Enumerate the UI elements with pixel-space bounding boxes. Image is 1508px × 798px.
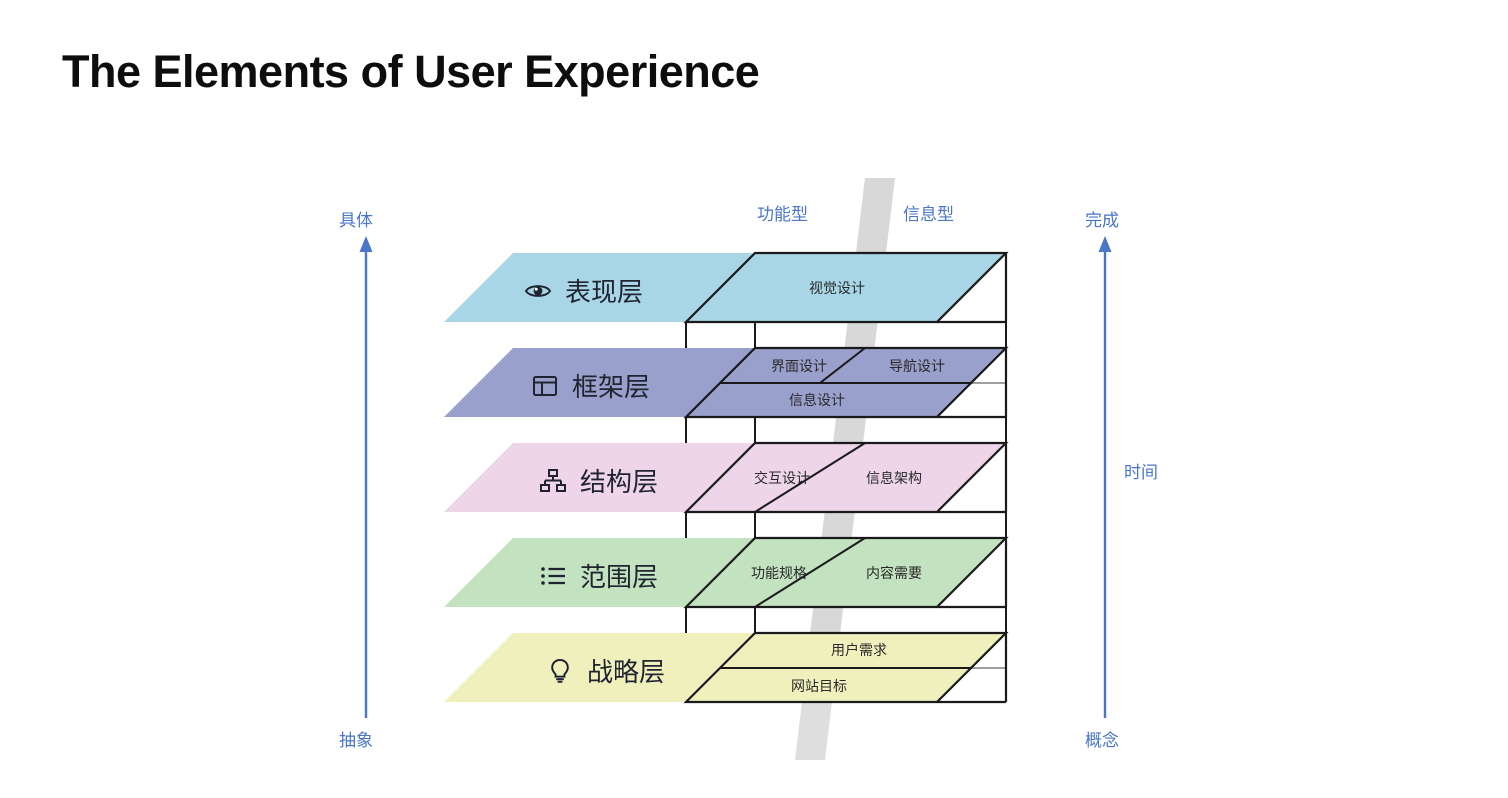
cell-label-interface-design: 界面设计 [771,356,827,376]
ux-elements-diagram: 具体 抽象 完成 概念 时间 功能型 信息型 表现层 框架层 [0,0,1508,798]
axis-label-right-top: 完成 [1085,206,1119,231]
layer-label-strategy[interactable]: 战略层 [546,652,665,689]
cell-label-user-needs: 用户需求 [831,640,887,660]
eye-icon [524,277,552,305]
axis-label-left-top: 具体 [339,206,373,231]
diagram-canvas [0,0,1508,798]
cell-label-interaction-design: 交互设计 [754,468,810,488]
cell-label-functional-specifications: 功能规格 [751,563,807,583]
layer-label-skeleton[interactable]: 框架层 [531,367,650,404]
axis-label-left-bottom: 抽象 [339,726,373,751]
layer-label-structure[interactable]: 结构层 [539,462,658,499]
layer-label-text: 表现层 [565,272,643,309]
cell-label-information-architecture: 信息架构 [866,468,922,488]
layer-label-scope[interactable]: 范围层 [539,557,658,594]
window-layout-icon [531,372,559,400]
cell-label-visual-design: 视觉设计 [809,278,865,298]
layer-label-text: 结构层 [580,462,658,499]
cell-label-information-design: 信息设计 [789,390,845,410]
layer-label-text: 范围层 [580,557,658,594]
layer-label-text: 战略层 [587,652,665,689]
list-icon [539,562,567,590]
cell-label-content-requirements: 内容需要 [866,563,922,583]
left-axis [360,236,373,718]
layer-label-text: 框架层 [572,367,650,404]
layer-slab-strategy[interactable] [444,633,1006,702]
layer-label-surface[interactable]: 表现层 [524,272,643,309]
right-axis [1099,236,1112,718]
axis-label-time: 时间 [1124,458,1158,483]
lightbulb-icon [546,657,574,685]
axis-label-informational: 信息型 [903,200,954,225]
cell-label-site-objectives: 网站目标 [791,676,847,696]
axis-label-right-bottom: 概念 [1085,726,1119,751]
cell-label-navigation-design: 导航设计 [889,356,945,376]
sitemap-icon [539,467,567,495]
axis-label-functional: 功能型 [757,200,808,225]
